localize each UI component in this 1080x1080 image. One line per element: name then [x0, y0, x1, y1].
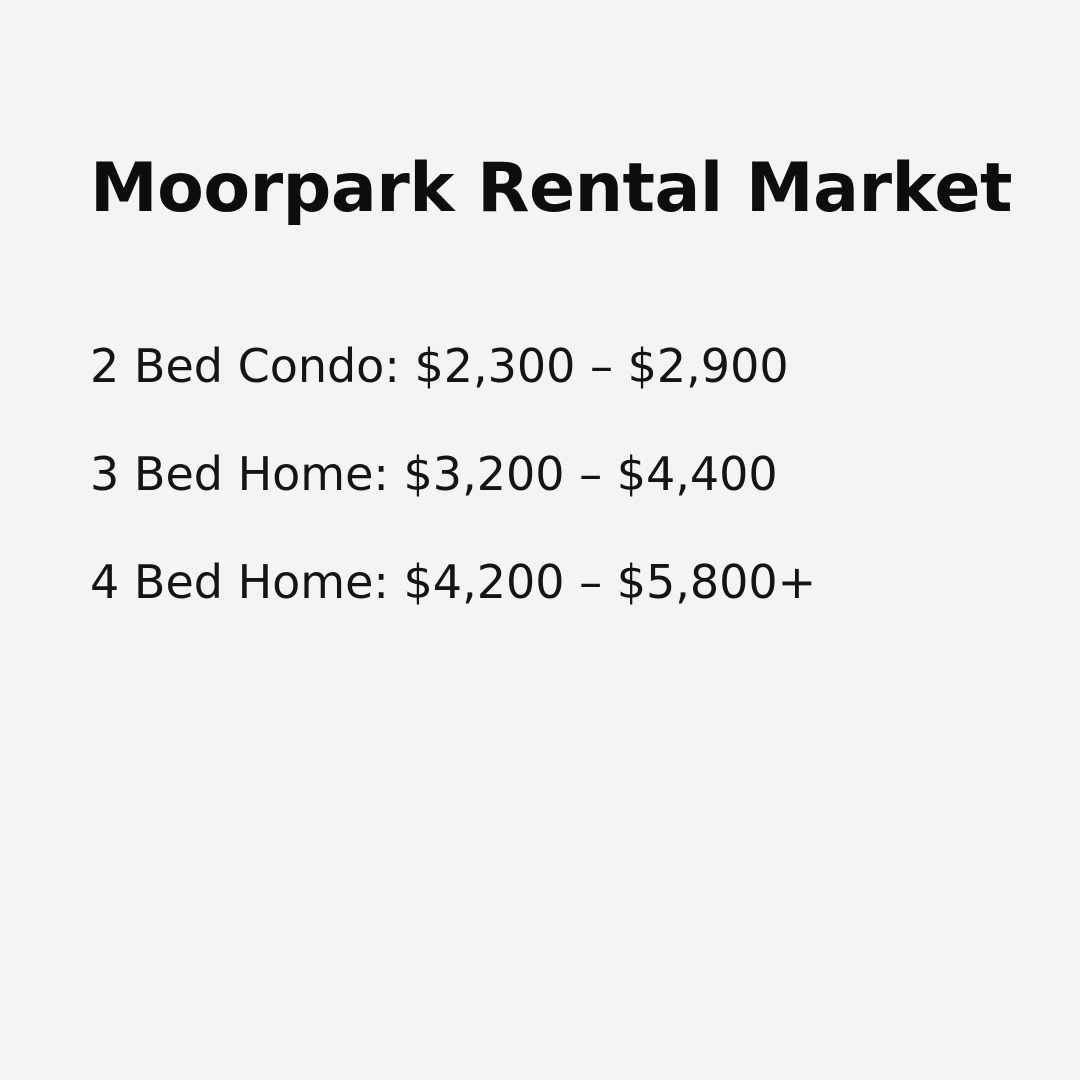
list-item: 2 Bed Condo: $2,300 – $2,900: [90, 343, 1010, 389]
rental-price-list: 2 Bed Condo: $2,300 – $2,900 3 Bed Home:…: [90, 343, 1010, 605]
list-item: 3 Bed Home: $3,200 – $4,400: [90, 451, 1010, 497]
list-item: 4 Bed Home: $4,200 – $5,800+: [90, 559, 1010, 605]
page-title: Moorpark Rental Market: [90, 155, 1010, 223]
content-block: Moorpark Rental Market 2 Bed Condo: $2,3…: [90, 155, 1010, 605]
slide-canvas: Moorpark Rental Market 2 Bed Condo: $2,3…: [0, 0, 1080, 1080]
